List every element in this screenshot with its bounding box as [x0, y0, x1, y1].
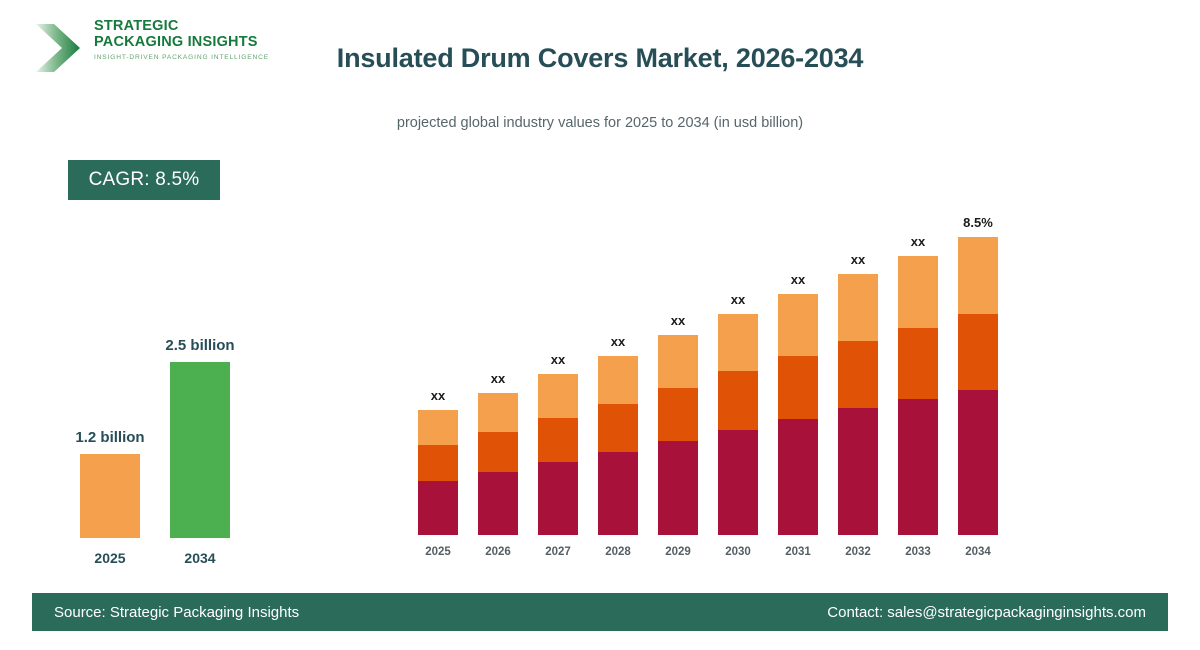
stacked-bar-segment — [538, 418, 578, 462]
comparison-chart: 1.2 billion20252.5 billion2034 — [50, 300, 290, 570]
stacked-bar-segment — [478, 432, 518, 472]
stacked-bar-segment — [778, 419, 818, 535]
stacked-bar-segment — [778, 356, 818, 418]
stacked-bar-segment — [598, 404, 638, 453]
stacked-bar — [418, 410, 458, 535]
stacked-bar-segment — [898, 328, 938, 399]
logo-line-1: STRATEGIC — [94, 18, 272, 34]
footer-bar: Source: Strategic Packaging Insights Con… — [32, 593, 1168, 631]
stacked-bar-segment — [658, 441, 698, 535]
comparison-bar — [170, 362, 230, 538]
stacked-bar — [898, 256, 938, 535]
comparison-value-label: 2.5 billion — [130, 337, 270, 354]
stacked-bar-value-label: xx — [584, 334, 652, 349]
stacked-bar-segment — [538, 374, 578, 418]
stacked-bar-segment — [838, 408, 878, 535]
stacked-bar-segment — [598, 452, 638, 535]
page-title: Insulated Drum Covers Market, 2026-2034 — [0, 43, 1200, 74]
stacked-bar-segment — [718, 430, 758, 535]
stacked-bar-value-label: xx — [884, 234, 952, 249]
stacked-bar-segment — [778, 294, 818, 356]
stacked-bar-segment — [958, 390, 998, 535]
comparison-bar-fill — [170, 362, 230, 538]
stacked-bar-value-label: xx — [524, 352, 592, 367]
stacked-bar-year-label: 2029 — [644, 546, 712, 558]
stacked-bar-segment — [838, 274, 878, 341]
stacked-bar-segment — [838, 341, 878, 408]
stacked-bar-value-label: xx — [764, 272, 832, 287]
stacked-bar-segment — [658, 335, 698, 388]
stacked-bar-segment — [598, 356, 638, 404]
stacked-bar-year-label: 2026 — [464, 546, 532, 558]
stacked-bar-year-label: 2033 — [884, 546, 952, 558]
stacked-bar-segment — [418, 445, 458, 481]
footer-contact[interactable]: Contact: sales@strategicpackaginginsight… — [827, 604, 1146, 621]
stacked-bar-column: xx2033 — [898, 205, 938, 560]
stacked-bar-value-label: xx — [824, 252, 892, 267]
stacked-bar-column: xx2029 — [658, 205, 698, 560]
stacked-column-chart: xx2025xx2026xx2027xx2028xx2029xx2030xx20… — [405, 205, 1015, 560]
stacked-bar-column: xx2028 — [598, 205, 638, 560]
footer-source: Source: Strategic Packaging Insights — [54, 604, 299, 621]
stacked-bar — [538, 374, 578, 535]
comparison-year-label: 2025 — [60, 550, 160, 566]
stacked-bar-value-label: xx — [464, 371, 532, 386]
comparison-bar-fill — [80, 454, 140, 538]
stacked-bar-value-label: xx — [704, 292, 772, 307]
stacked-bar-segment — [478, 393, 518, 432]
stacked-bar-segment — [418, 410, 458, 445]
stacked-bar-year-label: 2030 — [704, 546, 772, 558]
stacked-bar-year-label: 2028 — [584, 546, 652, 558]
stacked-bar — [658, 335, 698, 535]
stacked-bar-column: xx2030 — [718, 205, 758, 560]
stacked-bar — [838, 274, 878, 535]
stacked-bar-column: xx2032 — [838, 205, 878, 560]
stacked-bar-value-label: 8.5% — [944, 215, 1012, 230]
comparison-value-label: 1.2 billion — [40, 429, 180, 446]
stacked-bar-year-label: 2031 — [764, 546, 832, 558]
stacked-bar — [778, 294, 818, 535]
stacked-bar-segment — [958, 237, 998, 314]
stacked-bar-year-label: 2034 — [944, 546, 1012, 558]
stacked-bar-column: xx2025 — [418, 205, 458, 560]
stacked-bar-segment — [898, 399, 938, 535]
stacked-bar-column: 8.5%2034 — [958, 205, 998, 560]
stacked-bar-year-label: 2025 — [404, 546, 472, 558]
page-subtitle: projected global industry values for 202… — [0, 115, 1200, 131]
stacked-bar-value-label: xx — [404, 388, 472, 403]
comparison-year-label: 2034 — [150, 550, 250, 566]
stacked-bar-column: xx2031 — [778, 205, 818, 560]
stacked-bar — [718, 314, 758, 535]
stacked-bar-segment — [478, 472, 518, 535]
comparison-bar — [80, 454, 140, 538]
stacked-bar-value-label: xx — [644, 313, 712, 328]
stacked-bar-column: xx2027 — [538, 205, 578, 560]
stacked-bar-segment — [958, 314, 998, 390]
stacked-bar-segment — [418, 481, 458, 535]
stacked-bar — [958, 237, 998, 535]
stacked-bar-segment — [658, 388, 698, 442]
stacked-bar — [478, 393, 518, 535]
stacked-bar — [598, 356, 638, 535]
stacked-bar-column: xx2026 — [478, 205, 518, 560]
stacked-bar-segment — [538, 462, 578, 535]
stacked-bar-year-label: 2032 — [824, 546, 892, 558]
stacked-bar-segment — [718, 371, 758, 429]
cagr-badge: CAGR: 8.5% — [68, 160, 220, 200]
stacked-bar-year-label: 2027 — [524, 546, 592, 558]
stacked-bar-segment — [898, 256, 938, 328]
stacked-bar-segment — [718, 314, 758, 371]
